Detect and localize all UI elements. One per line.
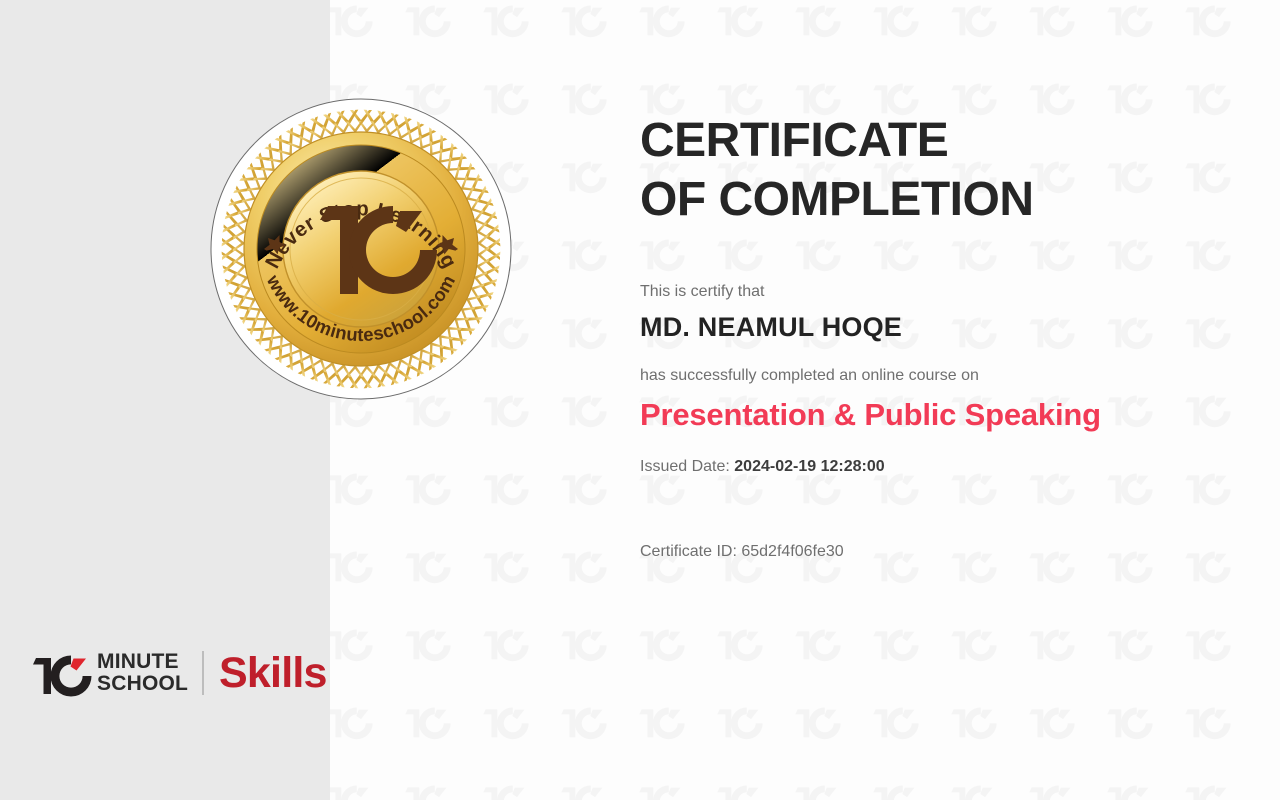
watermark-tile	[388, 448, 466, 526]
watermark-tile	[934, 604, 1012, 682]
watermark-tile	[388, 682, 466, 760]
certificate-title-line1: CERTIFICATE	[640, 114, 948, 167]
watermark-tile	[544, 760, 622, 800]
watermark-tile	[856, 0, 934, 58]
logo-skills-text: Skills	[219, 652, 327, 695]
watermark-tile	[544, 370, 622, 448]
watermark-tile	[330, 604, 388, 682]
watermark-tile	[1090, 604, 1168, 682]
watermark-tile	[700, 682, 778, 760]
watermark-tile	[330, 526, 388, 604]
watermark-tile	[544, 136, 622, 214]
course-lead-text: has successfully completed an online cou…	[640, 365, 1240, 387]
watermark-tile	[330, 0, 388, 58]
watermark-tile	[388, 526, 466, 604]
watermark-tile	[778, 0, 856, 58]
watermark-tile	[622, 0, 700, 58]
watermark-tile	[856, 760, 934, 800]
logo-wordmark: MINUTE SCHOOL	[97, 651, 188, 696]
watermark-tile	[778, 682, 856, 760]
watermark-tile	[1168, 682, 1246, 760]
gold-seal-badge: Never Stop Learning www.10minuteschool.c…	[210, 98, 512, 400]
issued-date-line: Issued Date: 2024-02-19 12:28:00	[640, 456, 1240, 478]
watermark-tile	[466, 682, 544, 760]
ten-minute-school-mark-icon	[30, 649, 92, 697]
watermark-tile	[544, 0, 622, 58]
watermark-tile	[934, 682, 1012, 760]
watermark-tile	[622, 604, 700, 682]
intro-text: This is certify that	[640, 281, 1240, 303]
watermark-tile	[466, 0, 544, 58]
watermark-tile	[1012, 0, 1090, 58]
watermark-tile	[1012, 604, 1090, 682]
watermark-tile	[330, 682, 388, 760]
watermark-tile	[544, 292, 622, 370]
watermark-tile	[388, 760, 466, 800]
watermark-tile	[1168, 0, 1246, 58]
watermark-tile	[700, 604, 778, 682]
watermark-tile	[466, 760, 544, 800]
watermark-tile	[544, 604, 622, 682]
watermark-tile	[544, 682, 622, 760]
watermark-tile	[544, 214, 622, 292]
watermark-tile	[330, 448, 388, 526]
watermark-tile	[1090, 682, 1168, 760]
watermark-tile	[1012, 682, 1090, 760]
watermark-tile	[1090, 760, 1168, 800]
watermark-tile	[856, 682, 934, 760]
watermark-tile	[856, 604, 934, 682]
logo-divider	[202, 651, 204, 695]
watermark-tile	[700, 0, 778, 58]
watermark-tile	[1168, 760, 1246, 800]
watermark-tile	[934, 760, 1012, 800]
watermark-tile	[1012, 760, 1090, 800]
logo-word-school: SCHOOL	[97, 673, 188, 695]
watermark-tile	[388, 0, 466, 58]
watermark-tile	[544, 448, 622, 526]
watermark-tile	[622, 760, 700, 800]
watermark-tile	[466, 604, 544, 682]
certificate-title: CERTIFICATE OF COMPLETION	[640, 112, 1240, 229]
watermark-tile	[778, 604, 856, 682]
watermark-tile	[700, 760, 778, 800]
watermark-tile	[934, 0, 1012, 58]
certificate-title-line2: OF COMPLETION	[640, 171, 1240, 230]
brand-logo: MINUTE SCHOOL Skills	[30, 645, 327, 701]
watermark-tile	[1168, 604, 1246, 682]
watermark-tile	[1090, 0, 1168, 58]
issued-date-value: 2024-02-19 12:28:00	[734, 458, 884, 475]
certificate-id: Certificate ID: 65d2f4f06fe30	[640, 541, 1240, 563]
watermark-tile	[330, 760, 388, 800]
watermark-tile	[466, 448, 544, 526]
recipient-name: MD. NEAMUL HOQE	[640, 311, 1240, 345]
course-name: Presentation & Public Speaking	[640, 396, 1240, 435]
logo-word-minute: MINUTE	[97, 651, 188, 673]
watermark-tile	[466, 526, 544, 604]
watermark-tile	[622, 682, 700, 760]
watermark-tile	[778, 760, 856, 800]
watermark-tile	[544, 58, 622, 136]
watermark-tile	[388, 604, 466, 682]
certificate-content: CERTIFICATE OF COMPLETION This is certif…	[640, 112, 1240, 563]
watermark-tile	[544, 526, 622, 604]
issued-date-label: Issued Date:	[640, 458, 730, 475]
